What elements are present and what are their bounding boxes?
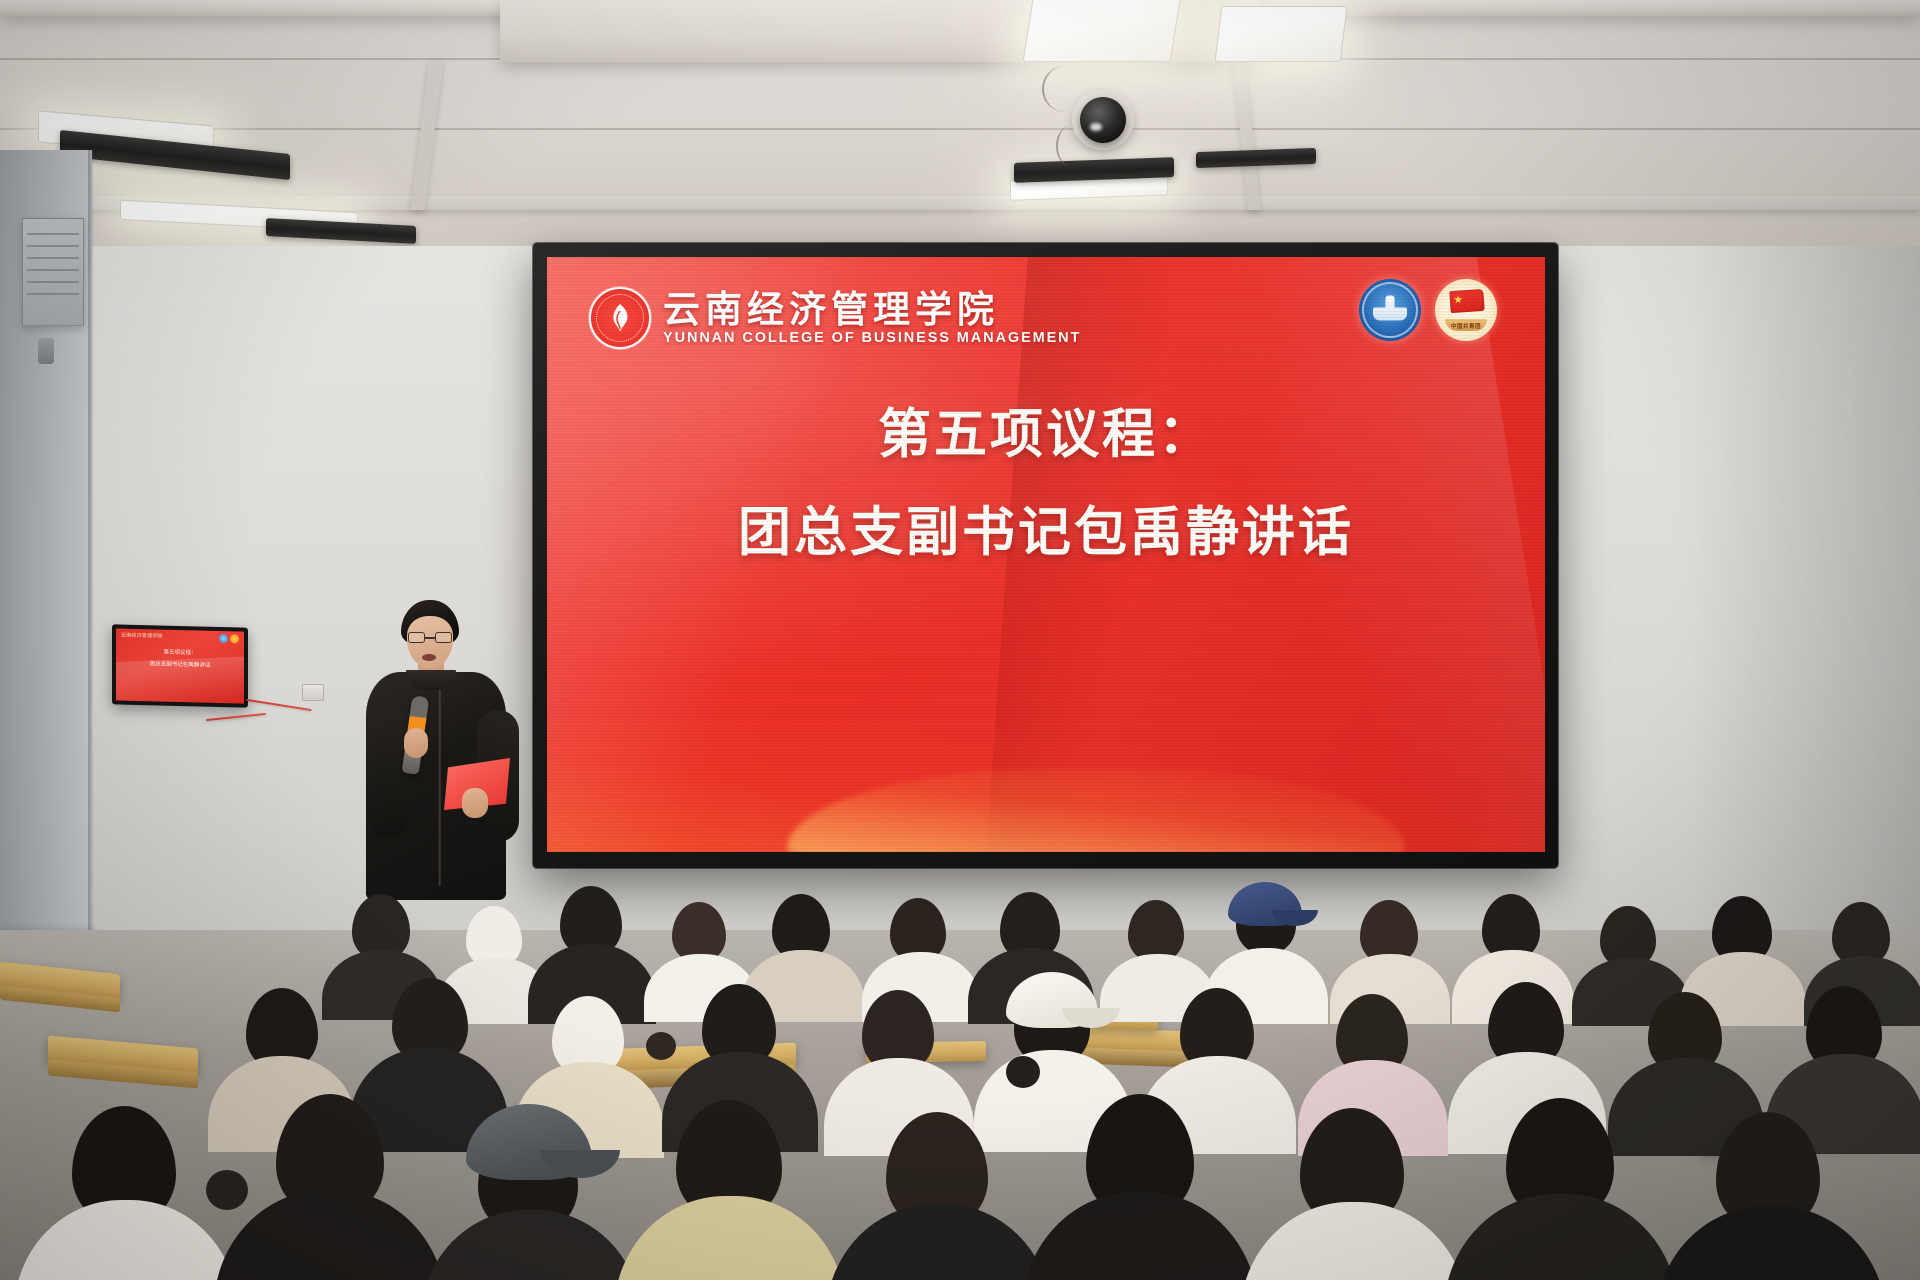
audience-shoulders bbox=[1240, 1202, 1468, 1280]
student-federation-emblem bbox=[1359, 279, 1421, 341]
ceiling-light-panel bbox=[1023, 0, 1182, 62]
presentation-slide: 云南经济管理学院 YUNNAN COLLEGE OF BUSINESS MANA… bbox=[547, 257, 1545, 852]
wall-socket bbox=[302, 684, 324, 701]
audience-head bbox=[672, 902, 726, 962]
slide-title-line2: 团总支副书记包禹静讲话 bbox=[547, 505, 1545, 561]
wall-shadow bbox=[1690, 246, 1920, 946]
logo-bird-glyph bbox=[607, 303, 633, 333]
speaker-hand-left bbox=[404, 728, 428, 758]
camera-wire bbox=[1042, 66, 1088, 112]
slide-emblems: 中国共青团 bbox=[1359, 279, 1497, 341]
emblem-book-icon bbox=[1373, 307, 1407, 320]
wall-vent bbox=[22, 218, 84, 326]
audience-shoulders bbox=[14, 1200, 238, 1280]
university-name-cn: 云南经济管理学院 bbox=[663, 291, 1081, 328]
speaker-arm-left bbox=[368, 708, 408, 838]
wall-monitor-header: 云南经济管理学院 bbox=[121, 632, 163, 640]
audience-head bbox=[1128, 900, 1184, 962]
speaker-jacket-zipper bbox=[438, 686, 441, 886]
audience bbox=[0, 860, 1920, 1280]
audience-shoulders bbox=[420, 1210, 642, 1280]
wall-monitor-line1: 第五项议程： bbox=[116, 646, 244, 657]
audience-hair-bun bbox=[206, 1170, 248, 1210]
audience-shoulders bbox=[214, 1190, 446, 1280]
wall-monitor[interactable]: 云南经济管理学院 第五项议程： 团总支副书记包禹静讲话 bbox=[112, 624, 248, 707]
ceiling-dome-camera bbox=[1080, 97, 1126, 143]
wall-monitor-screen: 云南经济管理学院 第五项议程： 团总支副书记包禹静讲话 bbox=[116, 628, 244, 703]
camera-glint bbox=[1090, 123, 1102, 131]
audience-hair-bun bbox=[1006, 1056, 1040, 1088]
slide-title-line1: 第五项议程： bbox=[547, 407, 1545, 463]
slide-title-block: 第五项议程： 团总支副书记包禹静讲话 bbox=[547, 407, 1545, 560]
ceiling-light-panel bbox=[1215, 6, 1348, 62]
audience-shoulders bbox=[1022, 1192, 1258, 1280]
speaker-presenter bbox=[352, 600, 527, 900]
audience-shoulders bbox=[1444, 1194, 1678, 1280]
audience-shoulders bbox=[1656, 1206, 1886, 1280]
university-logo-icon bbox=[589, 287, 651, 349]
audience-hair-bun bbox=[646, 1032, 676, 1060]
emblem-flag-icon bbox=[1449, 289, 1484, 313]
ceiling-seam bbox=[0, 128, 1920, 130]
projection-screen-frame: 云南经济管理学院 YUNNAN COLLEGE OF BUSINESS MANA… bbox=[533, 243, 1558, 868]
emblem-label: 中国共青团 bbox=[1435, 322, 1497, 330]
communist-youth-league-emblem: 中国共青团 bbox=[1435, 279, 1497, 341]
slide-university-header: 云南经济管理学院 YUNNAN COLLEGE OF BUSINESS MANA… bbox=[589, 287, 1081, 349]
camera-wire bbox=[1056, 126, 1084, 166]
wall-monitor-emblem-league bbox=[230, 634, 239, 643]
audience-shoulders bbox=[826, 1204, 1052, 1280]
screen-sheen bbox=[116, 655, 244, 704]
audience-shoulders bbox=[614, 1196, 846, 1280]
wall-monitor-emblem-federation bbox=[219, 634, 228, 643]
speaker-mouth bbox=[422, 654, 436, 661]
slide-ribbon-graphic bbox=[787, 769, 1406, 852]
wall-device bbox=[38, 338, 54, 364]
university-name-en: YUNNAN COLLEGE OF BUSINESS MANAGEMENT bbox=[663, 330, 1081, 346]
speaker-hand-right bbox=[462, 788, 488, 818]
speaker-glasses bbox=[408, 632, 452, 643]
lecture-hall-photo: 云南经济管理学院 第五项议程： 团总支副书记包禹静讲话 bbox=[0, 0, 1920, 1280]
university-name-block: 云南经济管理学院 YUNNAN COLLEGE OF BUSINESS MANA… bbox=[663, 291, 1081, 346]
